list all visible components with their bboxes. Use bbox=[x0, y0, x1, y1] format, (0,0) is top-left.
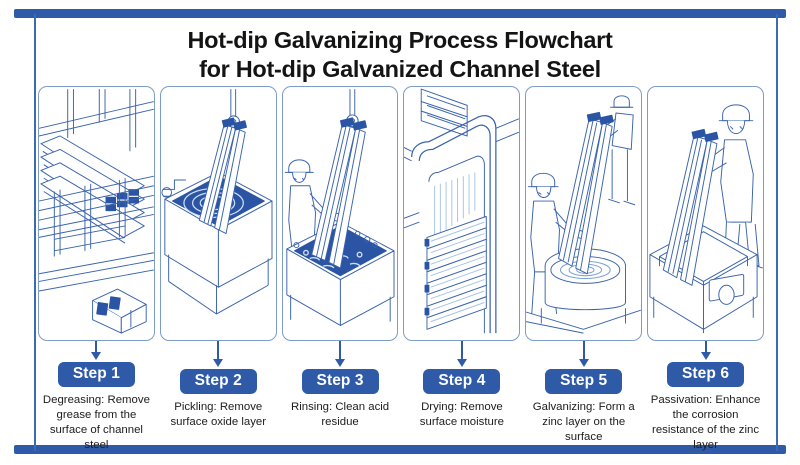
illustration-panels bbox=[38, 86, 764, 341]
step-badge-2[interactable]: Step 2 bbox=[180, 369, 257, 394]
step-1: Step 1 Degreasing: Remove grease from th… bbox=[38, 341, 155, 453]
arrow-down-icon bbox=[705, 341, 707, 353]
flowchart-frame: Hot-dip Galvanizing Process Flowchart fo… bbox=[0, 0, 800, 465]
step-caption-2: Pickling: Remove surface oxide layer bbox=[160, 400, 277, 430]
step-caption-3: Rinsing: Clean acid residue bbox=[282, 400, 399, 430]
passivation-tank-icon bbox=[648, 87, 763, 340]
step-badge-1[interactable]: Step 1 bbox=[58, 362, 135, 387]
panel-step-5[interactable] bbox=[525, 86, 642, 341]
title-line-1: Hot-dip Galvanizing Process Flowchart bbox=[187, 27, 612, 53]
step-3: Step 3 Rinsing: Clean acid residue bbox=[282, 341, 399, 453]
panel-step-1[interactable] bbox=[38, 86, 155, 341]
step-4: Step 4 Drying: Remove surface moisture bbox=[403, 341, 520, 453]
step-badge-6[interactable]: Step 6 bbox=[667, 362, 744, 387]
top-accent-bar bbox=[14, 9, 786, 18]
step-5: Step 5 Galvanizing: Form a zinc layer on… bbox=[525, 341, 642, 453]
step-caption-4: Drying: Remove surface moisture bbox=[403, 400, 520, 430]
step-caption-6: Passivation: Enhance the corrosion resis… bbox=[647, 393, 764, 453]
rinse-tank-worker-icon bbox=[283, 87, 398, 340]
panel-step-6[interactable] bbox=[647, 86, 764, 341]
step-caption-1: Degreasing: Remove grease from the surfa… bbox=[38, 393, 155, 453]
step-badge-4[interactable]: Step 4 bbox=[423, 369, 500, 394]
acid-tank-dipping-icon bbox=[161, 87, 276, 340]
step-6: Step 6 Passivation: Enhance the corrosio… bbox=[647, 341, 764, 453]
step-badge-5[interactable]: Step 5 bbox=[545, 369, 622, 394]
panel-step-3[interactable] bbox=[282, 86, 399, 341]
arrow-down-icon bbox=[339, 341, 341, 360]
title-line-2: for Hot-dip Galvanized Channel Steel bbox=[0, 55, 800, 84]
drying-oven-icon bbox=[404, 87, 519, 340]
arrow-down-icon bbox=[461, 341, 463, 360]
panel-step-4[interactable] bbox=[403, 86, 520, 341]
arrow-down-icon bbox=[583, 341, 585, 360]
zinc-bath-icon bbox=[526, 87, 641, 340]
arrow-down-icon bbox=[95, 341, 97, 353]
channel-steel-rack-icon bbox=[39, 87, 154, 340]
step-badge-3[interactable]: Step 3 bbox=[302, 369, 379, 394]
steps-row: Step 1 Degreasing: Remove grease from th… bbox=[38, 341, 764, 453]
panel-step-2[interactable] bbox=[160, 86, 277, 341]
page-title: Hot-dip Galvanizing Process Flowchart fo… bbox=[0, 26, 800, 85]
arrow-down-icon bbox=[217, 341, 219, 360]
step-caption-5: Galvanizing: Form a zinc layer on the su… bbox=[525, 400, 642, 445]
step-2: Step 2 Pickling: Remove surface oxide la… bbox=[160, 341, 277, 453]
